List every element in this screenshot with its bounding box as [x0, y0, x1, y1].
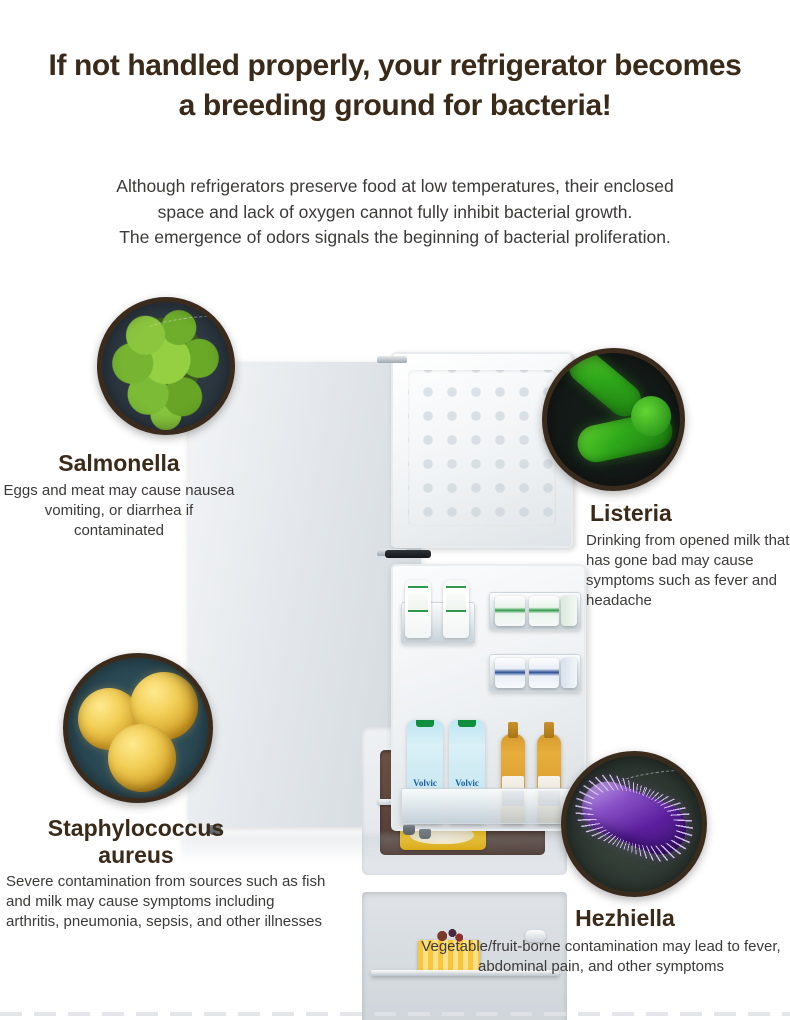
milk-bottle-2: [443, 580, 469, 638]
staphylococcus-title-line-2: aureus: [98, 842, 173, 868]
freezer-hinge-top: [377, 356, 407, 363]
hezhiella-dash-accent: [618, 767, 697, 790]
hezhiella-cell-body: [574, 774, 694, 863]
refrigerator-illustration: [181, 352, 601, 852]
salmonella-description: Eggs and meat may cause nausea vomiting,…: [0, 481, 238, 541]
staphylococcus-title: Staphylococcus aureus: [0, 815, 272, 869]
door-shelf-bottles: [401, 788, 581, 824]
listeria-description: Drinking from opened milk that has gone …: [586, 531, 790, 611]
egg-tray-panel: [408, 370, 556, 526]
page-subtitle-line-1: Although refrigerators preserve food at …: [55, 174, 735, 200]
listeria-title: Listeria: [590, 500, 790, 527]
blue-can-2: [529, 658, 559, 688]
fridge-door: [391, 564, 586, 831]
green-can-1: [495, 596, 525, 626]
infographic-page: If not handled properly, your refrigerat…: [0, 0, 790, 1020]
page-title-line-2: a breeding ground for bacteria!: [0, 86, 790, 126]
hezhiella-title: Hezhiella: [460, 905, 790, 932]
hezhiella-description: Vegetable/fruit-borne contamination may …: [412, 937, 790, 977]
page-subtitle-line-2: space and lack of oxygen cannot fully in…: [55, 200, 735, 226]
page-title: If not handled properly, your refrigerat…: [0, 46, 790, 126]
salmonella-title: Salmonella: [0, 450, 238, 477]
blue-can-3: [561, 658, 577, 688]
green-can-3: [561, 596, 577, 626]
green-can-2: [529, 596, 559, 626]
page-subtitle: Although refrigerators preserve food at …: [55, 174, 735, 251]
page-subtitle-line-3: The emergence of odors signals the begin…: [55, 225, 735, 251]
door-latch: [385, 550, 431, 558]
staphylococcus-description: Severe contamination from sources such a…: [6, 872, 326, 932]
bottom-dashed-divider: [0, 1012, 790, 1016]
salmonella-dash-accent: [146, 313, 225, 336]
staphylococcus-title-line-1: Staphylococcus: [48, 815, 224, 841]
hezhiella-bacillus-icon: [561, 751, 707, 897]
staph-coccus-3: [108, 724, 176, 792]
freezer-door: [391, 352, 573, 548]
listeria-rod-2: [574, 409, 676, 465]
blue-can-1: [495, 658, 525, 688]
milk-bottle-1: [405, 580, 431, 638]
listeria-rods-icon: [542, 348, 685, 491]
salmonella-cluster-icon: [97, 297, 235, 435]
staphylococcus-cocci-icon: [63, 653, 213, 803]
page-title-line-1: If not handled properly, your refrigerat…: [49, 49, 742, 82]
